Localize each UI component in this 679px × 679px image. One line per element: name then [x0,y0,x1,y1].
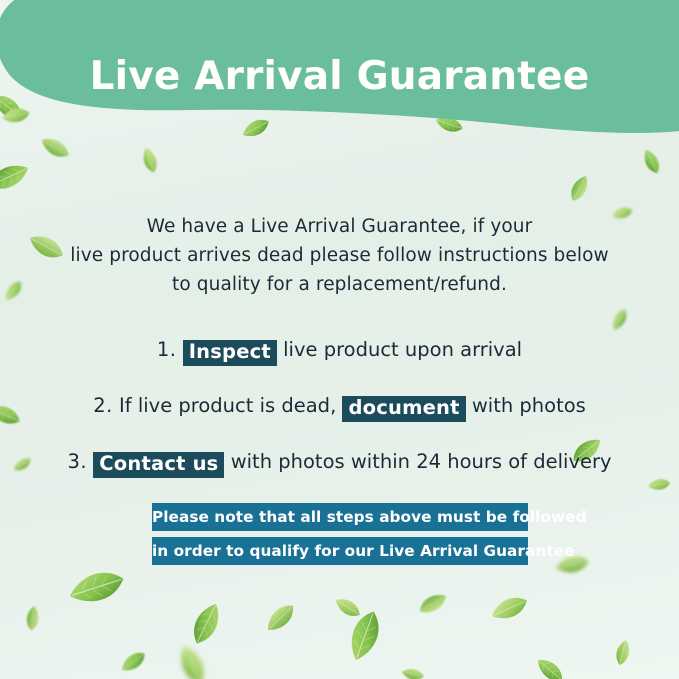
intro-line-1: We have a Live Arrival Guarantee, if you… [0,212,679,241]
note-banner-group: Please note that all steps above must be… [152,503,528,565]
intro-paragraph: We have a Live Arrival Guarantee, if you… [0,212,679,299]
steps-list: 1. Inspect live product upon arrival 2. … [0,322,679,490]
step-highlight-document: document [342,396,465,422]
step-number: 1. [157,338,177,361]
step-item: 2. If live product is dead, document wit… [0,378,679,434]
step-text: with photos within 24 hours of delivery [231,450,612,473]
step-text: live product upon arrival [283,338,522,361]
step-number: 3. [67,450,87,473]
step-text: with photos [472,394,586,417]
step-item: 3. Contact us with photos within 24 hour… [0,434,679,490]
step-item: 1. Inspect live product upon arrival [0,322,679,378]
page-title: Live Arrival Guarantee [0,54,679,99]
step-highlight-inspect: Inspect [183,340,277,366]
note-banner-line-2: in order to qualify for our Live Arrival… [152,537,528,565]
intro-line-3: to quality for a replacement/refund. [0,270,679,299]
step-highlight-contact-us: Contact us [93,452,224,478]
live-arrival-guarantee-poster: Live Arrival Guarantee We have a Live Ar… [0,0,679,679]
step-number: 2. [93,394,113,417]
intro-line-2: live product arrives dead please follow … [0,241,679,270]
note-banner-line-1: Please note that all steps above must be… [152,503,528,531]
step-text-pre: If live product is dead, [119,394,336,417]
